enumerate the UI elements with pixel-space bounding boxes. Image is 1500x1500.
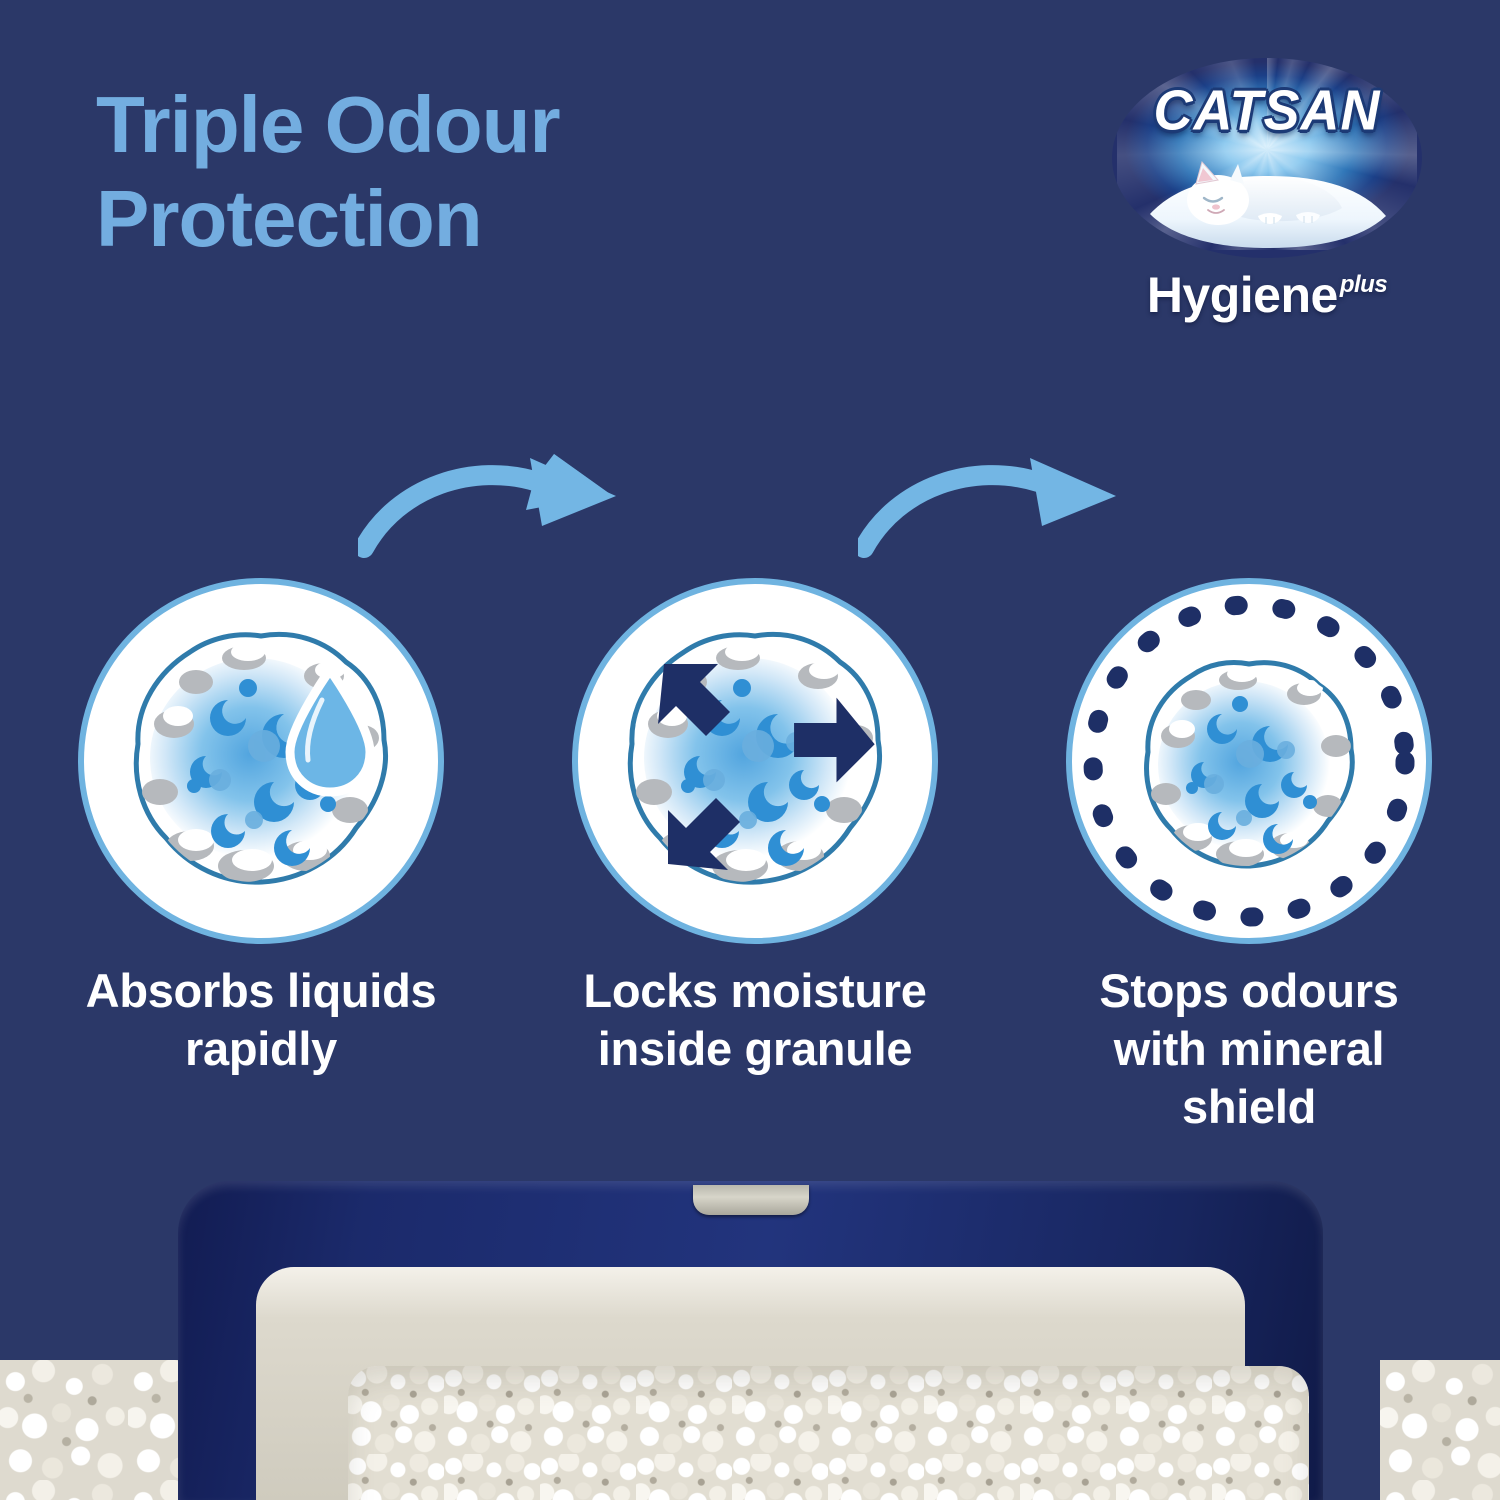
step-absorbs (78, 578, 444, 944)
step-stops (1066, 578, 1432, 944)
granule-with-inward-arrows-icon (572, 578, 938, 944)
step-locks (572, 578, 938, 944)
brand-product-line-sup: plus (1340, 271, 1387, 298)
brand-wordmark: CATSAN (1112, 79, 1422, 143)
product-photo (0, 1163, 1500, 1500)
brand-product-line-text: Hygiene (1147, 267, 1338, 323)
tray-handle-notch-icon (693, 1185, 809, 1215)
litter-texture-left (0, 1360, 180, 1500)
step-caption-stops: Stops odours with mineral shield (1019, 962, 1479, 1136)
brand-product-line: Hygieneplus (1112, 266, 1422, 324)
tray-inner-rim (256, 1267, 1245, 1500)
curved-arrow-right-icon-2 (858, 452, 1138, 562)
granule-with-dashed-shield-ring-icon (1066, 578, 1432, 944)
litter-texture-right (1380, 1360, 1500, 1500)
brand-logo: CATSAN Hygieneplus (1112, 58, 1422, 318)
page-title: Triple Odour Protection (96, 78, 816, 266)
curved-arrow-right-icon-1 (358, 452, 638, 562)
sleeping-cat-icon (1146, 144, 1390, 248)
granule-with-water-droplet-icon (78, 578, 444, 944)
infographic-page: Triple Odour Protection (0, 0, 1500, 1500)
litter-fill (348, 1366, 1309, 1500)
step-caption-absorbs: Absorbs liquids rapidly (31, 962, 491, 1078)
litter-tray (178, 1181, 1323, 1500)
step-caption-locks: Locks moisture inside granule (525, 962, 985, 1078)
